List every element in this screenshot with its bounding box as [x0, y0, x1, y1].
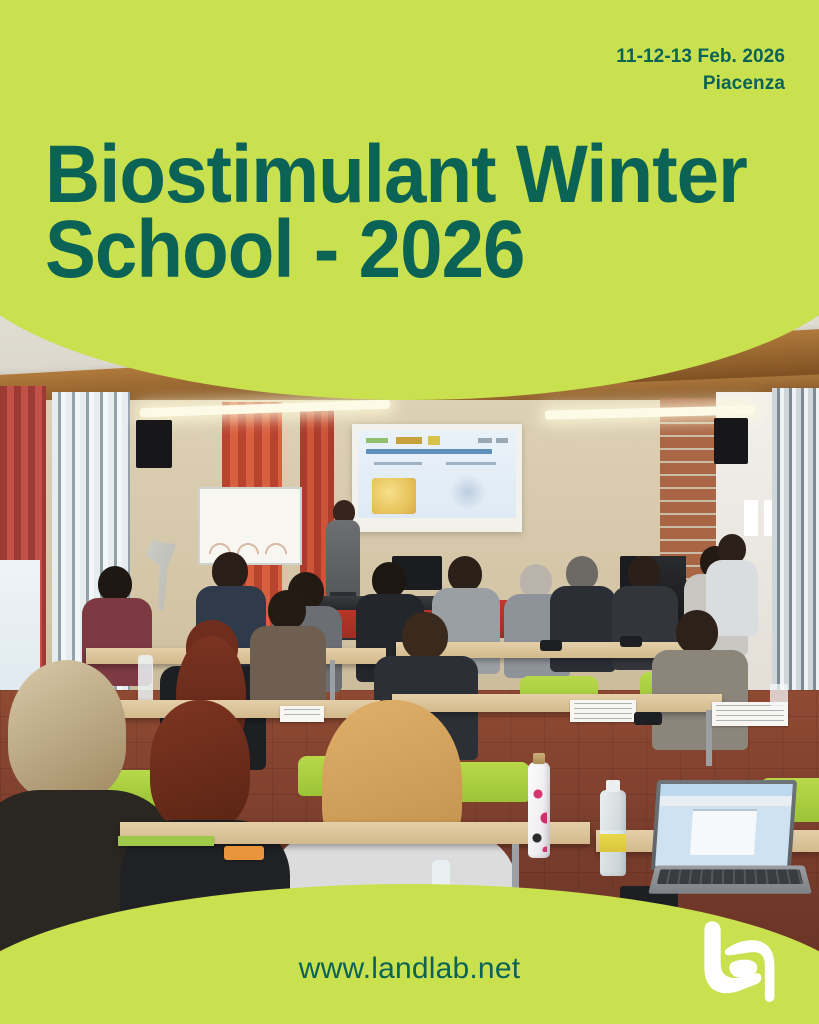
- desk: [392, 694, 722, 712]
- laptop-screen: [651, 780, 797, 870]
- wall-speaker-left: [136, 420, 172, 468]
- head: [268, 590, 306, 630]
- slide-diagram: [446, 474, 490, 510]
- laptop-keyboard: [657, 869, 803, 884]
- bottle-label: [600, 834, 626, 852]
- body: [550, 586, 616, 672]
- event-date-block: 11-12-13 Feb. 2026 Piacenza: [616, 44, 785, 98]
- paper-lines: [574, 703, 632, 719]
- head: [628, 556, 660, 590]
- head: [98, 566, 132, 602]
- head: [676, 610, 718, 654]
- poster: 11-12-13 Feb. 2026 Piacenza Biostimulant…: [0, 0, 819, 1024]
- head: [212, 552, 248, 590]
- event-date: 11-12-13 Feb. 2026: [616, 44, 785, 71]
- water-bottle: [138, 655, 153, 703]
- green-sheet: [118, 836, 214, 846]
- head: [448, 556, 482, 592]
- slide-title-bar: [366, 449, 492, 454]
- hair: [150, 700, 250, 830]
- page-title: Biostimulant Winter School - 2026: [45, 137, 747, 288]
- laptop-base: [648, 866, 812, 894]
- water-bottle: [600, 790, 626, 876]
- wall-speaker-right: [714, 418, 748, 464]
- hair: [8, 660, 126, 800]
- insulated-bottle: [528, 762, 550, 858]
- paper-sheet: [280, 706, 324, 722]
- head: [566, 556, 598, 590]
- slide-image: [372, 478, 416, 514]
- slide-logos: [366, 436, 508, 445]
- phone: [540, 640, 562, 651]
- document-window: [655, 784, 793, 866]
- slide-subtitle-bars: [374, 462, 506, 465]
- phone: [620, 636, 642, 647]
- head: [372, 562, 406, 598]
- bottle-cap: [533, 753, 545, 764]
- head: [520, 564, 552, 598]
- phone: [634, 712, 662, 725]
- orange-object: [224, 846, 264, 860]
- presenter-body: [326, 520, 360, 598]
- head: [402, 612, 448, 660]
- paper-sheet: [570, 700, 636, 722]
- event-location: Piacenza: [616, 71, 785, 98]
- paper-lines: [284, 709, 320, 719]
- whiteboard-sketch: [206, 534, 292, 554]
- cup: [770, 684, 788, 708]
- bottle-cap: [606, 780, 620, 792]
- landlab-logo: [689, 910, 785, 1006]
